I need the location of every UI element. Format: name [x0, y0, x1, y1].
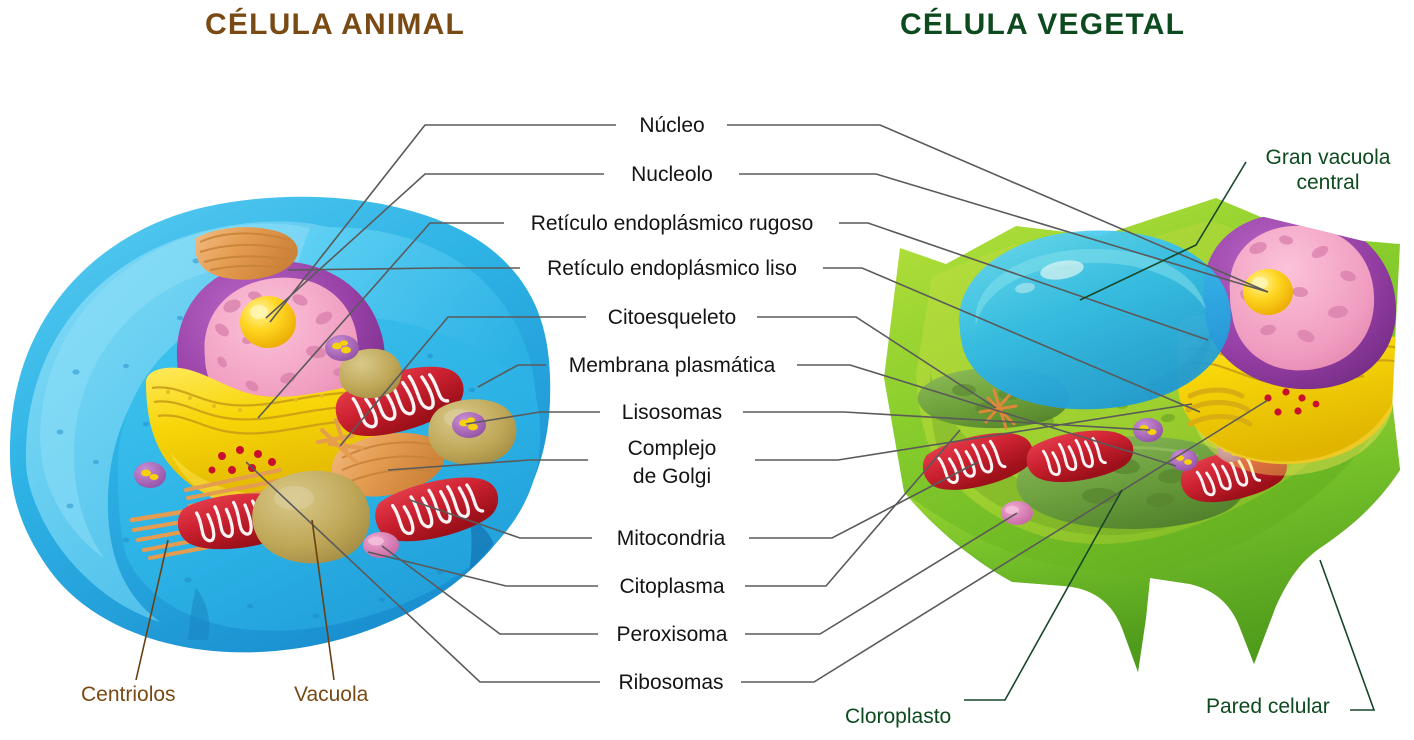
label-gran-vacuola-central: Gran vacuola central — [1254, 145, 1402, 195]
label-nucleolo: Nucleolo — [604, 162, 740, 188]
label-pared-celular: Pared celular — [1206, 694, 1330, 719]
label-cloroplasto: Cloroplasto — [845, 704, 951, 729]
label-citoesqueleto: Citoesqueleto — [586, 305, 758, 331]
label-citoplasma: Citoplasma — [598, 574, 746, 600]
animal-cell-illustration — [10, 197, 550, 653]
label-gran-vacuola-central-line1: Gran vacuola — [1254, 145, 1402, 170]
label-nucleo: Núcleo — [616, 113, 728, 139]
cell-diagram: CÉLULA ANIMAL CÉLULA VEGETAL Núcleo Nucl… — [0, 0, 1414, 740]
plant-nucleus — [1203, 214, 1396, 389]
nucleolus — [240, 296, 296, 348]
label-gran-vacuola-central-line2: central — [1254, 170, 1402, 195]
label-complejo-de-golgi-line2: de Golgi — [588, 463, 756, 491]
label-reticulo-endoplasmico-liso: Retículo endoplásmico liso — [520, 256, 824, 282]
label-complejo-de-golgi: Complejo de Golgi — [588, 435, 756, 491]
label-mitocondria: Mitocondria — [592, 526, 750, 552]
label-vacuola: Vacuola — [294, 682, 368, 707]
title-animal-cell: CÉLULA ANIMAL — [205, 8, 465, 42]
lysosome-2 — [452, 412, 486, 438]
lysosome-3 — [134, 462, 166, 488]
label-centriolos: Centriolos — [81, 682, 176, 707]
label-lisosomas: Lisosomas — [600, 400, 744, 426]
title-plant-cell: CÉLULA VEGETAL — [900, 8, 1185, 42]
label-peroxisoma: Peroxisoma — [598, 622, 746, 648]
label-complejo-de-golgi-line1: Complejo — [588, 435, 756, 463]
lysosome-1 — [325, 335, 359, 361]
label-membrana-plasmatica: Membrana plasmática — [546, 353, 798, 379]
label-reticulo-endoplasmico-rugoso: Retículo endoplásmico rugoso — [504, 211, 840, 237]
leader-pared-celular — [1320, 560, 1374, 710]
nucleolus-highlight — [250, 305, 268, 319]
label-ribosomas: Ribosomas — [600, 670, 742, 696]
